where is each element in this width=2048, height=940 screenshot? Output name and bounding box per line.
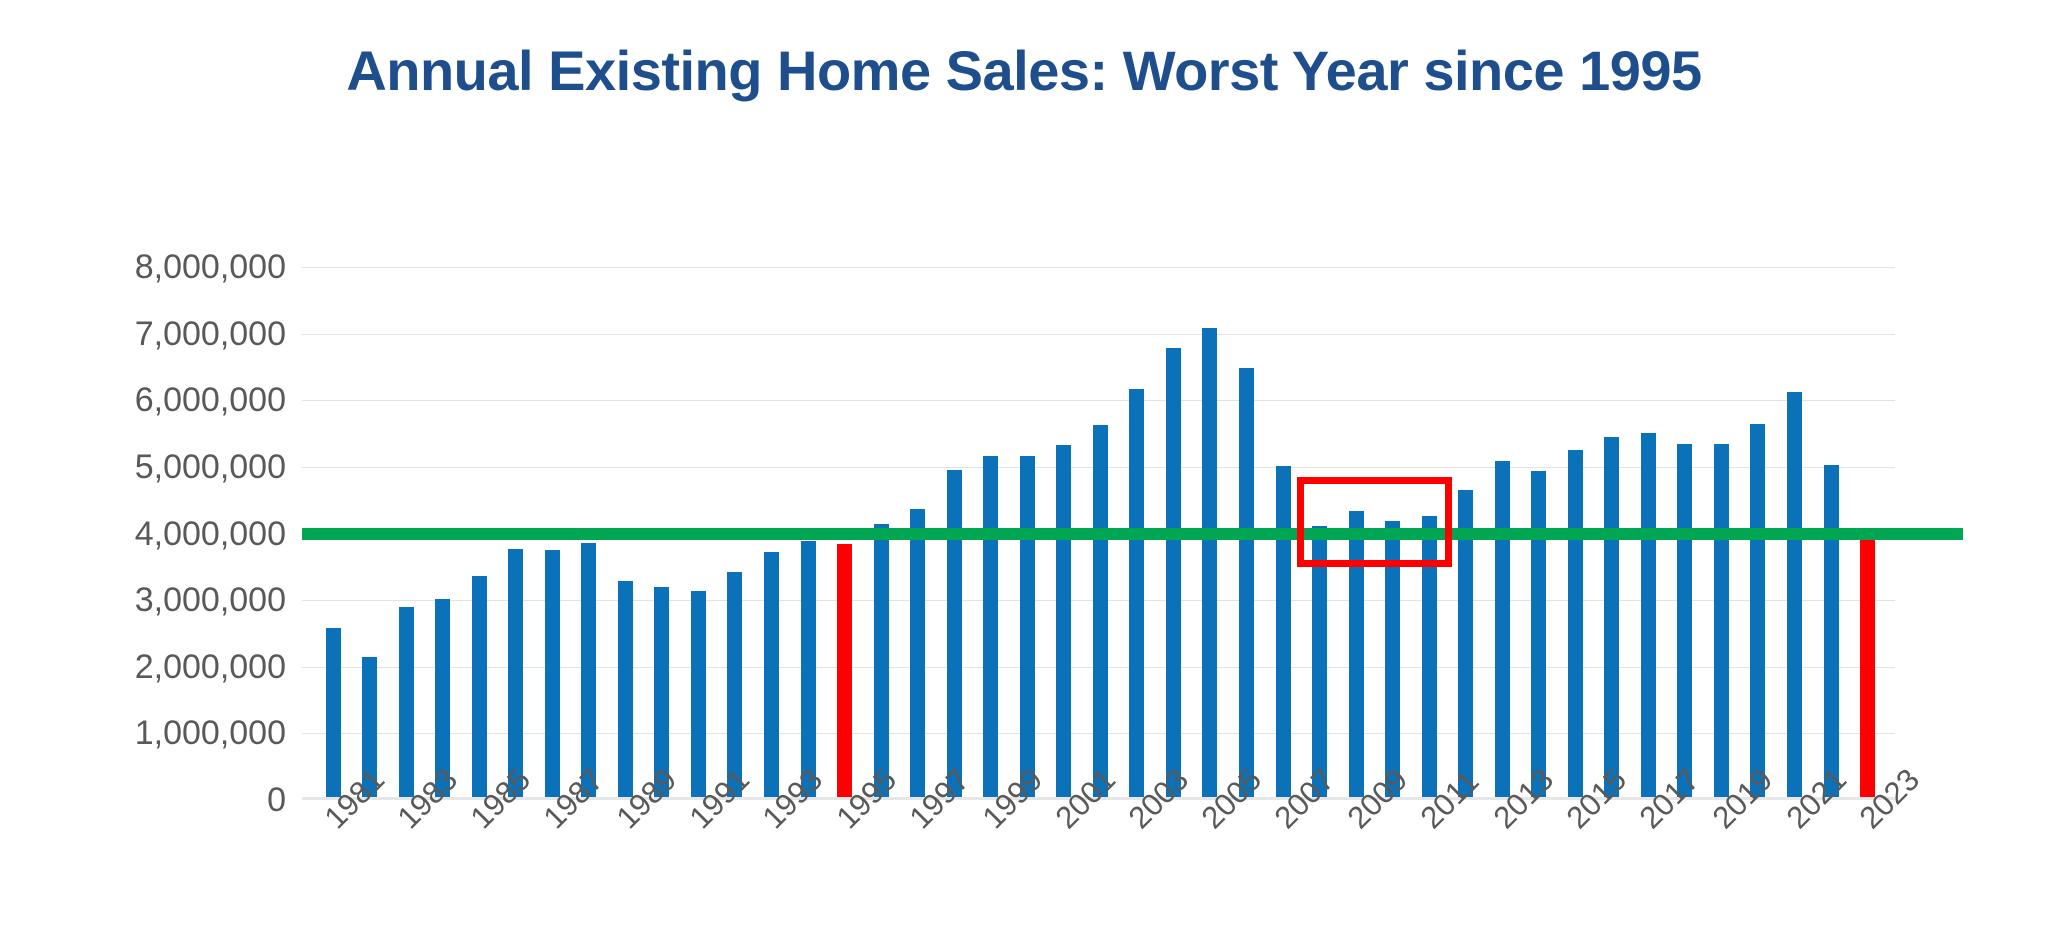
bar-2020[interactable] xyxy=(1750,424,1765,800)
bar-2003[interactable] xyxy=(1129,389,1144,800)
y-axis-tick-label: 6,000,000 xyxy=(26,383,286,417)
bar-1989[interactable] xyxy=(618,581,633,800)
y-axis-tick-label: 5,000,000 xyxy=(26,450,286,484)
y-axis-tick-label: 2,000,000 xyxy=(26,650,286,684)
bar-1994[interactable] xyxy=(801,541,816,800)
bar-2019[interactable] xyxy=(1714,444,1729,800)
y-axis-tick-label: 0 xyxy=(26,783,286,817)
annotation-highlight-box xyxy=(1297,477,1452,567)
bar-2013[interactable] xyxy=(1495,461,1510,800)
bar-1998[interactable] xyxy=(947,470,962,800)
gridline xyxy=(302,400,1895,401)
bar-1997[interactable] xyxy=(910,509,925,800)
bar-2000[interactable] xyxy=(1020,456,1035,800)
bar-2015[interactable] xyxy=(1568,450,1583,800)
gridline xyxy=(302,334,1895,335)
reference-line-4-million xyxy=(302,528,1963,540)
bar-2014[interactable] xyxy=(1531,471,1546,800)
bar-2016[interactable] xyxy=(1604,437,1619,800)
bar-2017[interactable] xyxy=(1641,433,1656,800)
y-axis-tick-label: 7,000,000 xyxy=(26,317,286,351)
y-axis-tick-label: 4,000,000 xyxy=(26,517,286,551)
chart-container: Annual Existing Home Sales: Worst Year s… xyxy=(0,0,2048,940)
bar-2002[interactable] xyxy=(1093,425,1108,800)
y-axis-tick-label: 1,000,000 xyxy=(26,716,286,750)
y-axis-tick-label: 3,000,000 xyxy=(26,583,286,617)
bar-1983[interactable] xyxy=(399,607,414,800)
page-title: Annual Existing Home Sales: Worst Year s… xyxy=(0,38,2048,103)
bar-2006[interactable] xyxy=(1239,368,1254,800)
bar-2004[interactable] xyxy=(1166,348,1181,800)
gridline xyxy=(302,267,1895,268)
bar-1999[interactable] xyxy=(983,456,998,800)
bar-2022[interactable] xyxy=(1824,465,1839,800)
bar-2023[interactable] xyxy=(1860,534,1875,801)
bar-2021[interactable] xyxy=(1787,392,1802,800)
bar-1981[interactable] xyxy=(326,628,341,800)
bar-1985[interactable] xyxy=(472,576,487,800)
bar-1991[interactable] xyxy=(691,591,706,800)
bar-1996[interactable] xyxy=(874,524,889,800)
bar-2005[interactable] xyxy=(1202,328,1217,800)
bar-2007[interactable] xyxy=(1276,466,1291,800)
bar-1988[interactable] xyxy=(581,543,596,800)
bar-1995[interactable] xyxy=(837,544,852,801)
bar-2001[interactable] xyxy=(1056,445,1071,800)
bar-1987[interactable] xyxy=(545,550,560,800)
bar-2018[interactable] xyxy=(1677,444,1692,800)
bar-1993[interactable] xyxy=(764,552,779,800)
y-axis-tick-label: 8,000,000 xyxy=(26,250,286,284)
